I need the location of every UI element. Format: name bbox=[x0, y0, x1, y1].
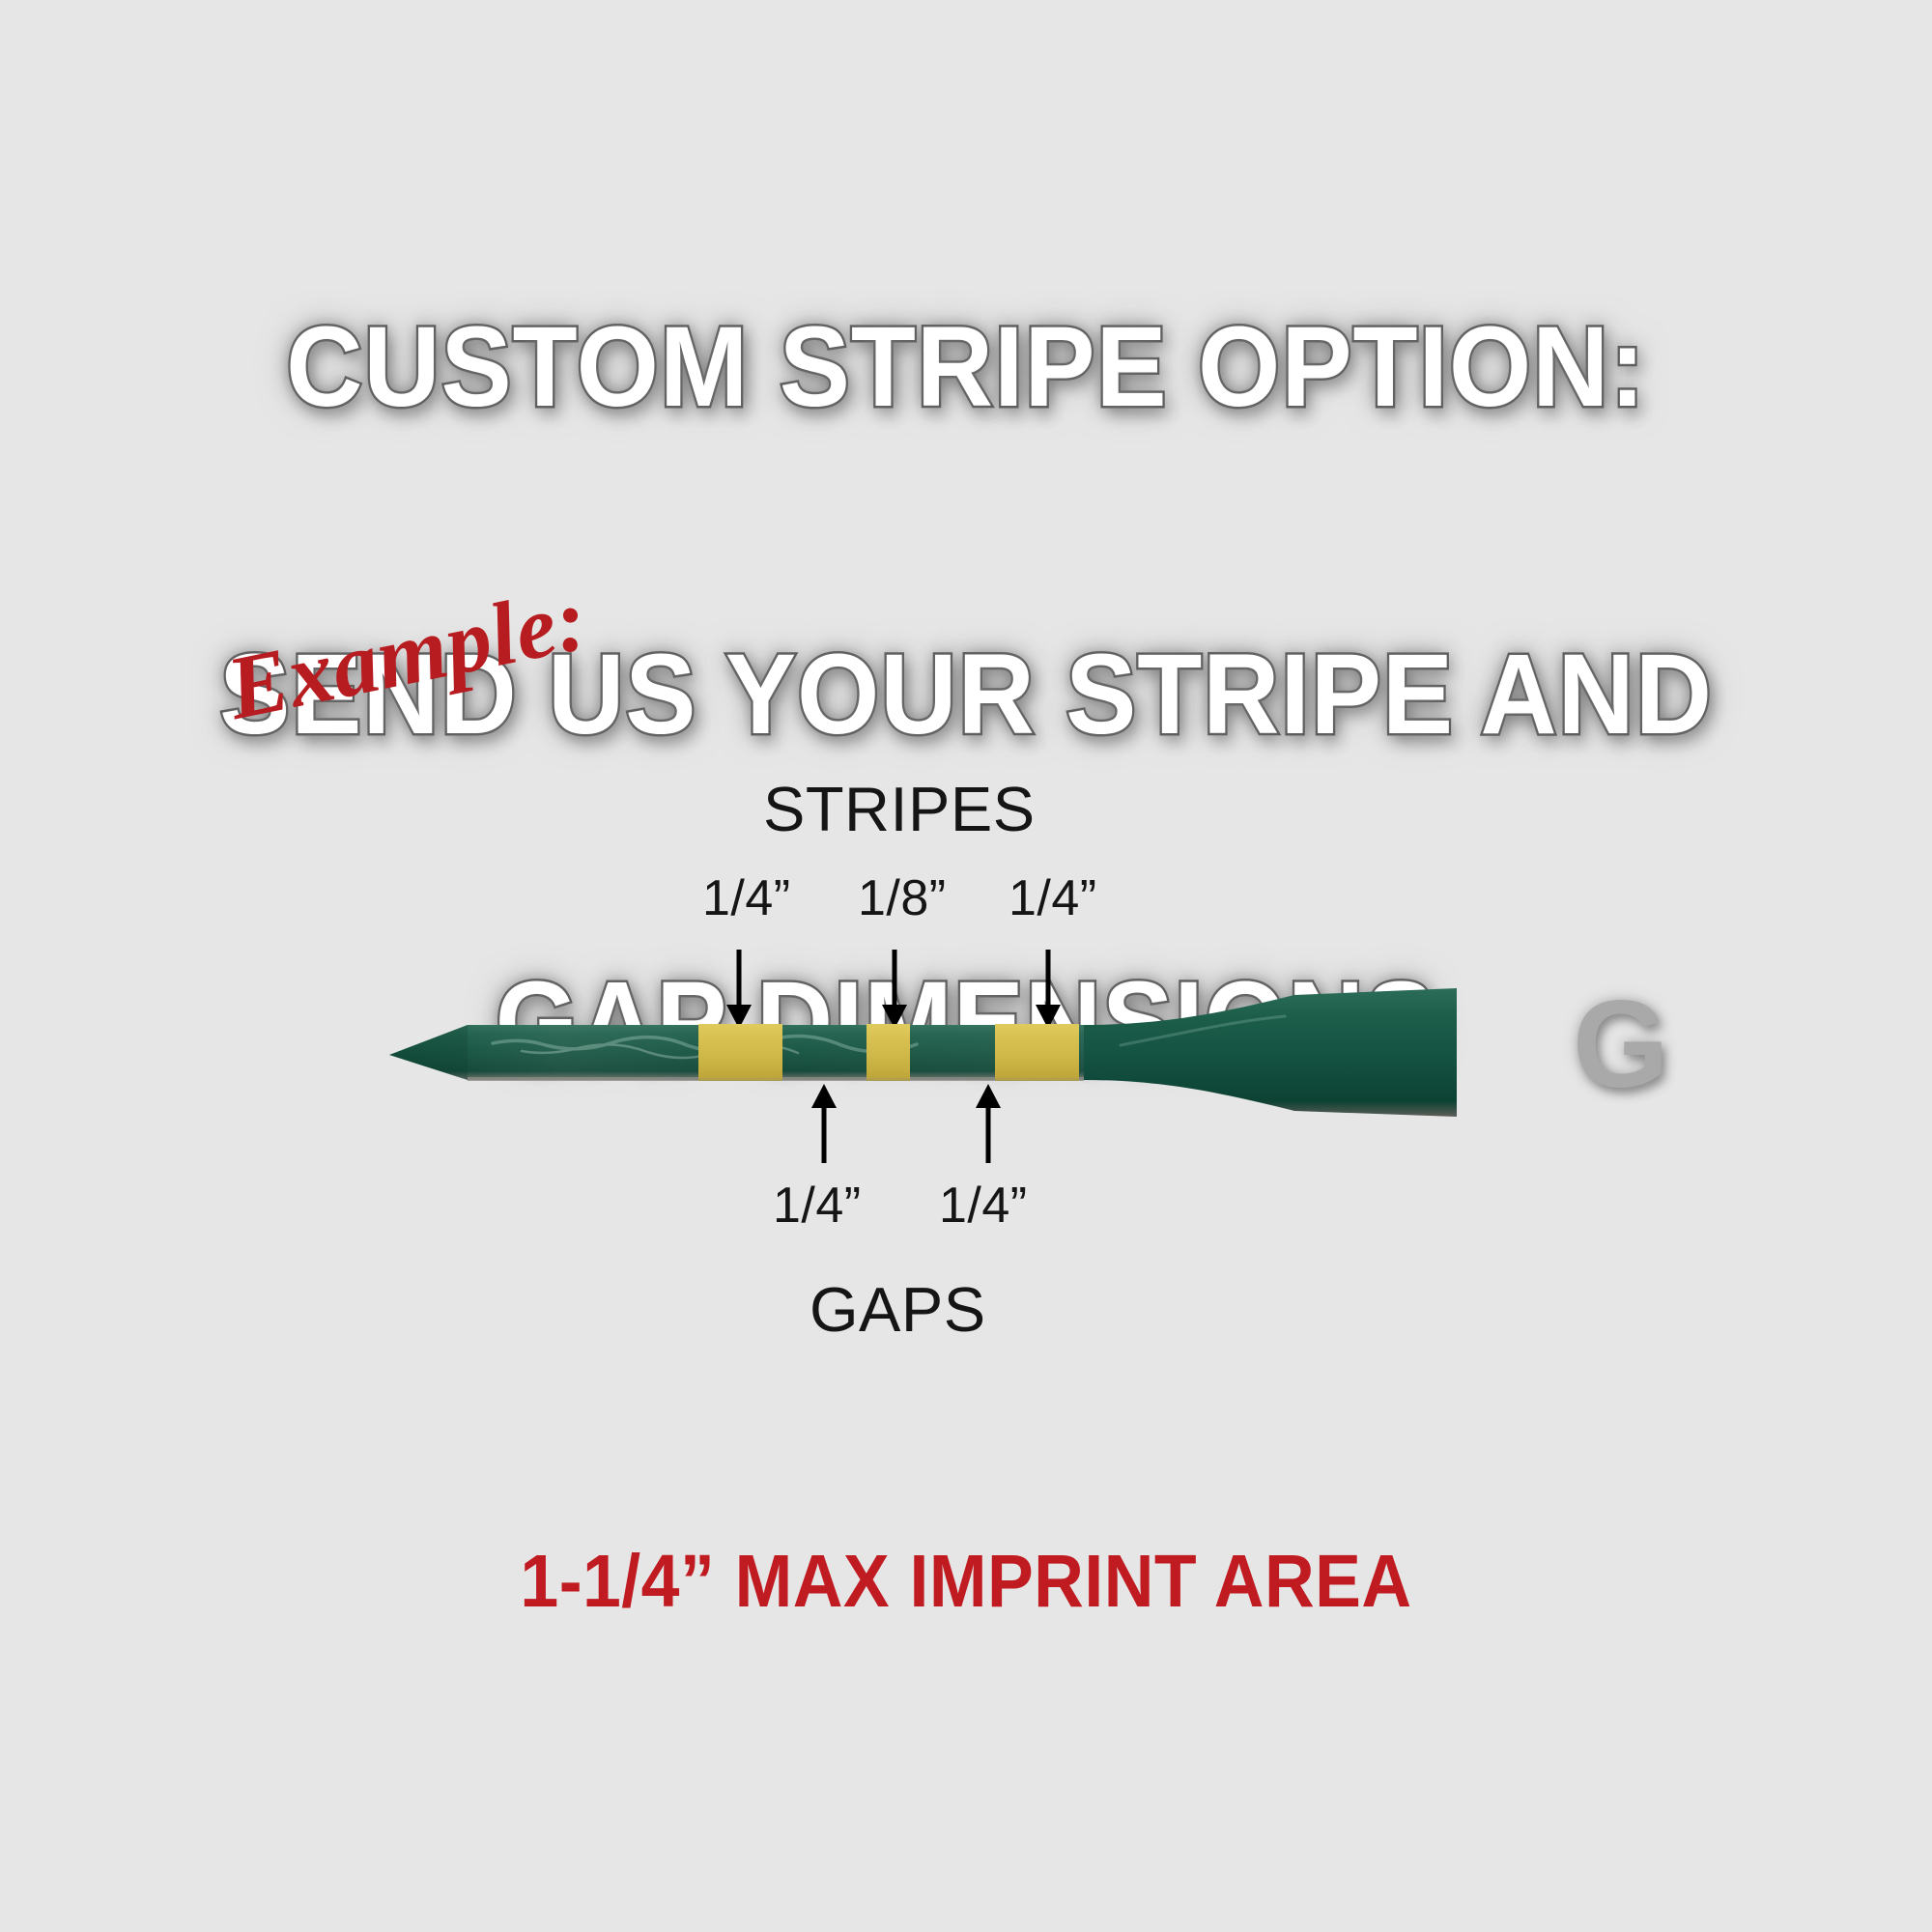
gap-arrow-up-1 bbox=[811, 1084, 837, 1163]
poster-canvas: CUSTOM STRIPE OPTION: SEND US YOUR STRIP… bbox=[0, 0, 1932, 1932]
stripe-dimension-label-3: 1/4” bbox=[1009, 869, 1097, 927]
stripe-dimension-label-1: 1/4” bbox=[702, 869, 791, 927]
tee-stripe-group bbox=[698, 1024, 1079, 1081]
golf-tee-illustration bbox=[367, 966, 1488, 1140]
gap-dimension-label-1: 1/4” bbox=[773, 1177, 862, 1235]
watermark-g-logo: G bbox=[1573, 983, 1669, 1107]
gap-dimension-label-2: 1/4” bbox=[939, 1177, 1028, 1235]
gap-arrow-up-2 bbox=[976, 1084, 1001, 1163]
stripe-dimension-label-2: 1/8” bbox=[858, 869, 947, 927]
gaps-caption: GAPS bbox=[810, 1273, 986, 1346]
stripes-caption: STRIPES bbox=[763, 773, 1036, 845]
max-imprint-area-note: 1-1/4” MAX IMPRINT AREA bbox=[68, 1539, 1864, 1625]
page-title-line-1: CUSTOM STRIPE OPTION: bbox=[68, 313, 1864, 422]
